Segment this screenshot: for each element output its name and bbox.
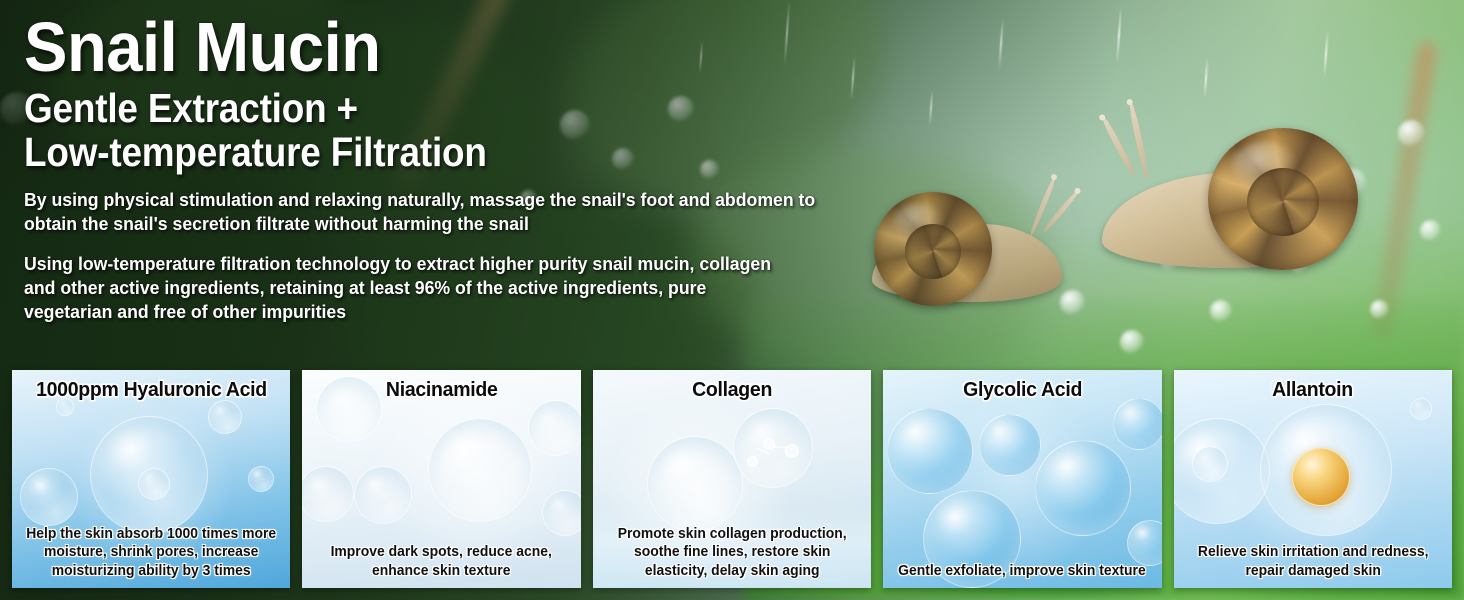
- subtitle-line-2: Low-temperature Filtration: [24, 131, 771, 174]
- bubble-icon: [316, 376, 382, 442]
- card-title: Collagen: [692, 379, 772, 402]
- ingredient-card-allantoin[interactable]: Allantoin Relieve skin irritation and re…: [1174, 370, 1452, 588]
- bubble-icon: [1113, 398, 1161, 450]
- card-title: Glycolic Acid: [963, 379, 1082, 402]
- molecule-node-icon: [763, 438, 775, 450]
- card-caption: Help the skin absorb 1000 times more moi…: [23, 525, 279, 580]
- card-title: 1000ppm Hyaluronic Acid: [36, 379, 267, 402]
- bubble-icon: [20, 468, 78, 526]
- bubble-icon: [542, 490, 580, 536]
- bubble-icon: [302, 466, 354, 522]
- bubble-icon: [1127, 520, 1161, 566]
- bubble-icon: [1410, 398, 1432, 420]
- bubble-icon: [1192, 446, 1228, 482]
- bubble-icon: [354, 466, 412, 524]
- card-title: Niacinamide: [386, 379, 498, 402]
- bubble-icon: [428, 418, 532, 522]
- description-paragraph-2: Using low-temperature filtration technol…: [24, 252, 788, 323]
- page-title: Snail Mucin: [24, 14, 796, 81]
- product-banner: Snail Mucin Gentle Extraction + Low-temp…: [0, 0, 1464, 600]
- bubble-icon: [208, 400, 242, 434]
- bubble-icon: [248, 466, 274, 492]
- subtitle-line-1: Gentle Extraction +: [24, 87, 771, 130]
- card-caption: Relieve skin irritation and redness, rep…: [1185, 543, 1441, 580]
- bubble-icon: [979, 414, 1041, 476]
- card-caption: Promote skin collagen production, soothe…: [604, 525, 860, 580]
- bubble-icon: [1035, 440, 1131, 536]
- card-caption: Gentle exfoliate, improve skin texture: [899, 562, 1147, 580]
- card-title: Allantoin: [1272, 379, 1353, 402]
- molecule-bond-icon: [773, 446, 789, 448]
- ingredient-card-glycolic-acid[interactable]: Glycolic Acid Gentle exfoliate, improve …: [883, 370, 1161, 588]
- amber-droplet-icon: [1292, 448, 1350, 506]
- description-paragraph-1: By using physical stimulation and relaxi…: [24, 188, 845, 235]
- card-caption: Improve dark spots, reduce acne, enhance…: [314, 543, 570, 580]
- bubble-icon: [647, 436, 743, 532]
- ingredient-card-row: 1000ppm Hyaluronic Acid Help the skin ab…: [12, 370, 1452, 588]
- molecule-node-icon: [747, 456, 758, 467]
- hero-copy-block: Snail Mucin Gentle Extraction + Low-temp…: [24, 14, 854, 323]
- ingredient-card-niacinamide[interactable]: Niacinamide Improve dark spots, reduce a…: [302, 370, 580, 588]
- bubble-icon: [887, 408, 973, 494]
- bubble-icon: [528, 400, 580, 456]
- bubble-icon: [138, 468, 170, 500]
- ingredient-card-hyaluronic-acid[interactable]: 1000ppm Hyaluronic Acid Help the skin ab…: [12, 370, 290, 588]
- ingredient-card-collagen[interactable]: Collagen Promote skin collagen productio…: [593, 370, 871, 588]
